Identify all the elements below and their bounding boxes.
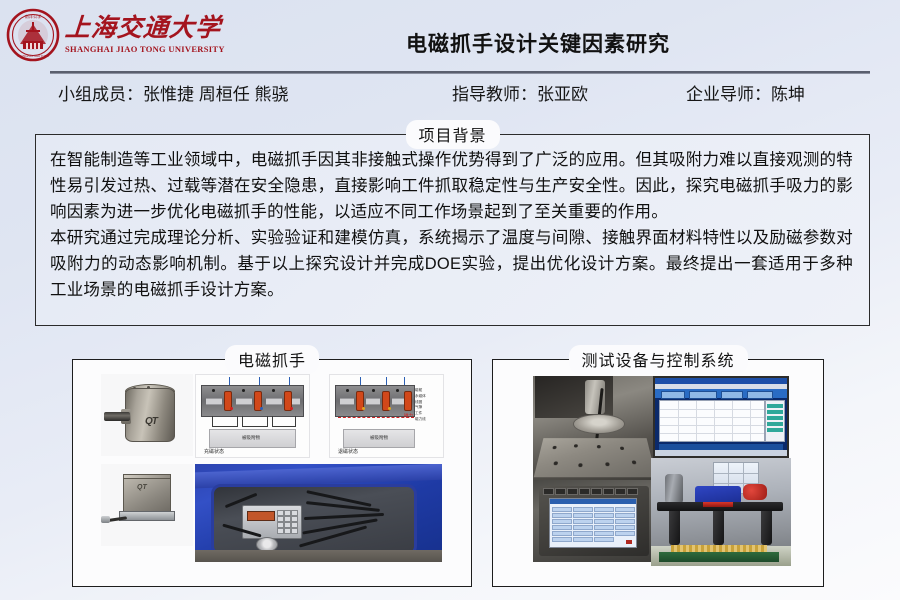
hmi-screen-header — [550, 499, 636, 504]
block-base — [119, 511, 175, 521]
green-pcb-board — [659, 552, 779, 562]
hmi-screen — [549, 498, 637, 548]
electromagnetic-gripper-section: 电磁抓手 QT QT — [72, 347, 472, 587]
load-cell-brand-block: QT — [137, 484, 147, 491]
sjtu-seal-icon: 南洋公学 SHANGHAI JIAO TONG — [6, 8, 60, 62]
magnetization-caption: 充磁状态 — [204, 448, 224, 455]
block-connector — [101, 516, 110, 523]
gripper-image-collage: QT QT — [73, 360, 471, 586]
hmi-button-row — [543, 488, 643, 493]
university-wordmark: 上海交通大学 SHANGHAI JIAO TONG UNIVERSITY — [65, 16, 225, 54]
diagram-legend: 磁轭永磁体线圈气隙工件磁力线 — [415, 389, 439, 424]
software-ribbon — [655, 389, 787, 398]
page-title: 电磁抓手设计关键因素研究 — [238, 28, 838, 58]
cylinder-shaft — [104, 412, 130, 421]
os-taskbar — [655, 450, 787, 456]
wordmark-english: SHANGHAI JIAO TONG UNIVERSITY — [65, 45, 225, 54]
test-equipment-body — [492, 359, 824, 587]
svg-text:SHANGHAI JIAO TONG: SHANGHAI JIAO TONG — [17, 54, 50, 58]
test-rig-machine-photo — [533, 376, 657, 484]
acquisition-software-monitor-photo — [653, 376, 789, 458]
byline-members: 小组成员：张惟捷 周桓任 熊骁 — [58, 80, 288, 105]
gold-pcb-strip — [671, 545, 767, 552]
controller-display — [247, 511, 275, 521]
fixture-cone — [665, 474, 683, 504]
machine-base-plate — [534, 438, 657, 477]
mag-core-plate — [201, 385, 304, 417]
electromagnetic-gripper-body: QT QT — [72, 359, 472, 587]
demagnetization-caption: 退磁状态 — [338, 448, 358, 455]
load-cell-brand-left: QT — [145, 416, 157, 427]
byline-row: 小组成员：张惟捷 周桓任 熊骁 指导教师：张亚欧 企业导师：陈坤 — [0, 80, 900, 110]
project-background-section: 项目背景 在智能制造等工业领域中，电磁抓手因其非接触式操作优势得到了广泛的应用。… — [35, 122, 870, 327]
hmi-alarm-indicator — [626, 540, 632, 544]
red-bar — [703, 502, 733, 507]
demagnetization-state-diagram: 磁轭永磁体线圈气隙工件磁力线 — [329, 374, 444, 458]
background-paragraph-2: 本研究通过完成理论分析、实验验证和建模仿真，系统揭示了温度与间隙、接触界面材料特… — [50, 225, 853, 303]
controller-keypad — [277, 510, 297, 534]
hmi-touch-panel-photo — [533, 480, 655, 562]
cylindrical-load-cell-photo: QT — [101, 374, 193, 456]
test-equipment-section: 测试设备与控制系统 — [492, 347, 824, 587]
block-load-cell-photo: QT — [101, 464, 193, 546]
toolbox-interior — [211, 484, 417, 556]
wordmark-chinese: 上海交通大学 — [64, 16, 226, 41]
toolbox-floor — [195, 550, 442, 562]
software-plot-canvas — [659, 400, 765, 442]
red-clamp — [743, 484, 767, 500]
slide-header: 南洋公学 SHANGHAI JIAO TONG 上海交通大学 SHANGHAI … — [0, 0, 900, 72]
mag-target-label: 被吸附物 — [242, 435, 260, 441]
background-paragraph-1: 在智能制造等工业领域中，电磁抓手因其非接触式操作优势得到了广泛的应用。但其吸附力… — [50, 147, 853, 225]
svg-text:南洋公学: 南洋公学 — [25, 13, 42, 20]
demag-core-plate — [335, 385, 415, 417]
project-background-body: 在智能制造等工业领域中，电磁抓手因其非接触式操作优势得到了广泛的应用。但其吸附力… — [35, 134, 870, 326]
machine-disc-fixture — [573, 414, 625, 434]
demag-target-label: 被吸附物 — [370, 435, 388, 441]
fixture-bench-photo — [651, 458, 791, 566]
block-body — [123, 478, 171, 514]
university-logo: 南洋公学 SHANGHAI JIAO TONG 上海交通大学 SHANGHAI … — [6, 4, 238, 66]
byline-mentor: 企业导师：陈坤 — [686, 80, 805, 105]
byline-advisor: 指导教师：张亚欧 — [452, 80, 588, 105]
cylinder-body — [125, 388, 175, 442]
header-divider — [50, 71, 870, 74]
magnetization-state-diagram: 被吸附物 充磁状态 — [195, 374, 310, 458]
controller-toolbox-photo — [195, 464, 442, 562]
test-equipment-collage — [493, 360, 823, 586]
software-side-panel — [765, 400, 785, 442]
